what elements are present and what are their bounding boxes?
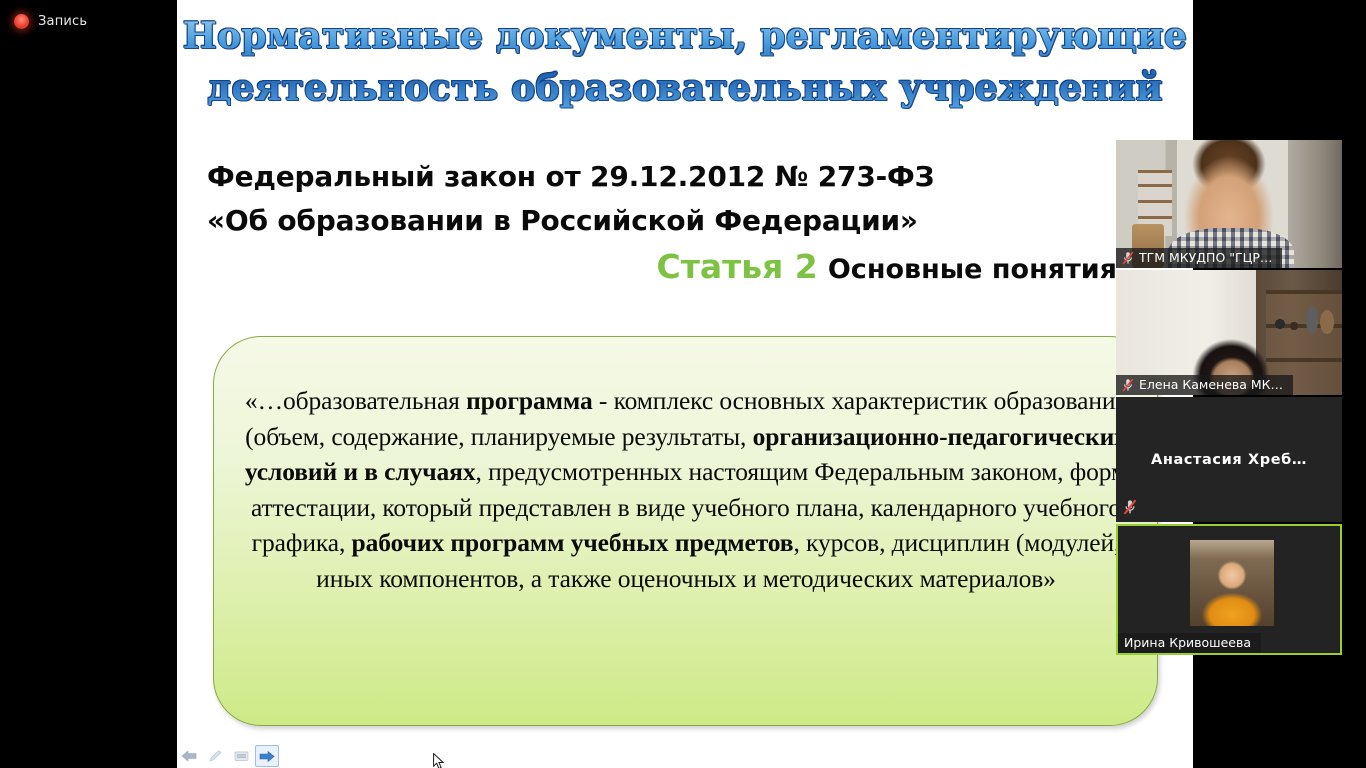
menu-icon [234,750,249,762]
participant-tile[interactable]: Елена Каменева МК… [1116,270,1342,395]
participant-name-badge: Анастасия Хреб… [1116,397,1342,522]
recording-dot-icon [14,14,29,29]
participant-name: Ирина Кривошеева [1124,635,1251,650]
quote-box: «…образовательная программа - комплекс о… [213,336,1158,726]
mic-muted-icon [1122,378,1134,392]
participant-name: ТГМ МКУДПО "ГЦР… [1139,250,1272,265]
arrow-right-icon [259,750,275,763]
participant-tile[interactable]: Анастасия Хреб… [1116,397,1342,522]
participant-name: Елена Каменева МК… [1139,377,1283,392]
participant-name-badge: Ирина Кривошеева [1118,633,1261,653]
recording-indicator: Запись [14,10,87,32]
mic-muted-icon [1123,499,1137,515]
participant-tile[interactable]: ТГМ МКУДПО "ГЦР… [1116,140,1342,268]
participant-tile-active-speaker[interactable]: Ирина Кривошеева [1116,524,1342,655]
participant-name-badge: ТГМ МКУДПО "ГЦР… [1116,248,1282,268]
mic-muted-icon [1122,251,1134,265]
recording-label: Запись [38,14,87,29]
presentation-toolbar [177,744,1193,768]
participant-name-badge: Елена Каменева МК… [1116,375,1293,395]
avatar [1190,540,1274,626]
shared-slide: Нормативные документы, регламентирующие … [177,0,1193,768]
quote-text: «…образовательная программа - комплекс о… [236,383,1136,596]
avatar-clothing [1198,588,1266,626]
participant-name: Анастасия Хреб… [1151,452,1307,468]
background-objects [1272,294,1338,340]
article-line: Статья 2 Основные понятия [207,247,1117,290]
next-slide-button[interactable] [255,745,279,767]
video-strip: ТГМ МКУДПО "ГЦР… Елена Каменева МК… [1116,140,1342,655]
article-number: Статья 2 [657,247,818,286]
zoom-screenshare-window: Запись Нормативные документы, регламенти… [0,0,1366,768]
arrow-left-icon [181,750,197,762]
previous-slide-button[interactable] [177,745,201,767]
pen-icon [208,749,223,763]
slide-title: Нормативные документы, регламентирующие … [177,10,1193,114]
slide-menu-button[interactable] [229,745,253,767]
article-caption: Основные понятия [828,254,1117,285]
law-heading: Федеральный закон от 29.12.2012 № 273-ФЗ… [207,155,997,243]
pen-tool-button[interactable] [203,745,227,767]
